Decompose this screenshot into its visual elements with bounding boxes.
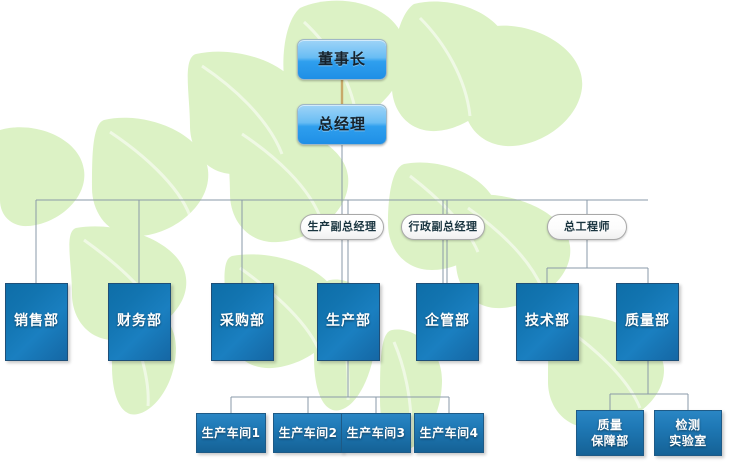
node-department-quality[interactable]: 质量部	[616, 283, 679, 361]
node-department-production[interactable]: 生产部	[317, 283, 380, 361]
node-chief-engineer-label: 总工程师	[564, 220, 610, 234]
node-workshop-2-label: 生产车间2	[279, 426, 338, 441]
node-general-manager[interactable]: 总经理	[297, 104, 387, 145]
node-vice-production-label: 生产副总经理	[308, 220, 377, 234]
node-department-finance-label: 财务部	[117, 313, 162, 331]
node-workshop-3[interactable]: 生产车间3	[341, 413, 411, 453]
node-quality-assurance[interactable]: 质量 保障部	[576, 410, 644, 456]
node-department-purchasing-label: 采购部	[220, 313, 265, 331]
node-testing-laboratory[interactable]: 检测 实验室	[654, 410, 722, 456]
org-chart-canvas: 董事长 总经理 生产副总经理 行政副总经理 总工程师 销售部 财务部 采购部 生…	[0, 0, 732, 465]
node-department-sales[interactable]: 销售部	[5, 283, 68, 361]
node-quality-assurance-label: 质量 保障部	[591, 417, 629, 449]
node-department-finance[interactable]: 财务部	[108, 283, 171, 361]
node-department-technology[interactable]: 技术部	[516, 283, 579, 361]
node-vice-admin-label: 行政副总经理	[409, 220, 478, 234]
node-chief-engineer[interactable]: 总工程师	[547, 214, 627, 240]
node-department-enterprise-management[interactable]: 企管部	[416, 283, 479, 361]
node-vice-production[interactable]: 生产副总经理	[300, 214, 384, 240]
node-workshop-3-label: 生产车间3	[347, 426, 406, 441]
node-department-quality-label: 质量部	[625, 313, 670, 331]
node-workshop-2[interactable]: 生产车间2	[273, 413, 343, 453]
node-workshop-4-label: 生产车间4	[420, 426, 479, 441]
node-workshop-1-label: 生产车间1	[202, 426, 261, 441]
node-department-sales-label: 销售部	[14, 313, 59, 331]
node-chairman[interactable]: 董事长	[297, 39, 387, 80]
node-chairman-label: 董事长	[318, 50, 366, 69]
node-general-manager-label: 总经理	[318, 115, 366, 134]
node-department-production-label: 生产部	[326, 313, 371, 331]
node-department-enterprise-management-label: 企管部	[425, 313, 470, 331]
node-testing-laboratory-label: 检测 实验室	[669, 417, 707, 449]
node-vice-admin[interactable]: 行政副总经理	[401, 214, 485, 240]
node-department-technology-label: 技术部	[525, 313, 570, 331]
node-workshop-4[interactable]: 生产车间4	[414, 413, 484, 453]
node-workshop-1[interactable]: 生产车间1	[196, 413, 266, 453]
node-department-purchasing[interactable]: 采购部	[211, 283, 274, 361]
